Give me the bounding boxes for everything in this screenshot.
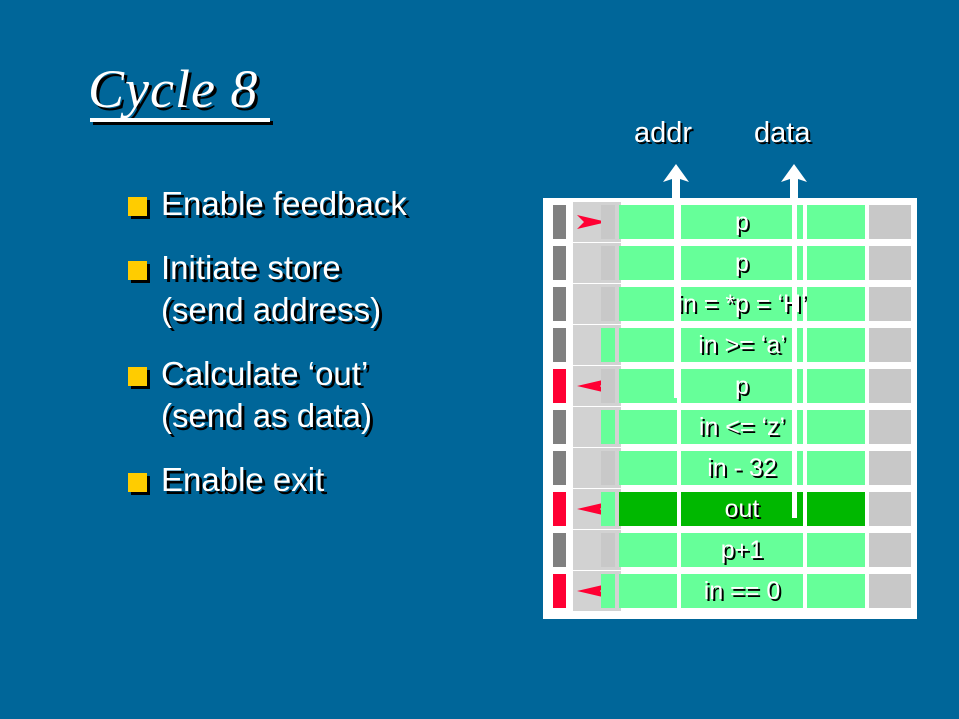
row-stage-cell: [807, 533, 865, 567]
row-stage-cell: [807, 328, 865, 362]
row-stage-cell: [619, 410, 677, 444]
table-row: in >= ‘a’: [543, 325, 917, 365]
row-status-marker: [553, 492, 566, 526]
row-status-marker: [553, 369, 566, 403]
column-header-addr: addr: [634, 117, 692, 150]
row-phase-cell: [601, 246, 615, 280]
row-phase-cell: [601, 205, 615, 239]
row-stage-cell: [681, 246, 803, 280]
row-status-marker: [553, 328, 566, 362]
row-tail-cell: [869, 492, 911, 526]
table-row: in == 0: [543, 571, 917, 611]
row-status-marker: [553, 533, 566, 567]
row-status-marker: [553, 410, 566, 444]
addr-connector-line: [674, 198, 679, 398]
row-stage-cell: [807, 246, 865, 280]
row-stage-cell: [619, 246, 677, 280]
row-stage-cell: [619, 533, 677, 567]
row-phase-cell: [601, 533, 615, 567]
row-stage-cell: [807, 205, 865, 239]
row-stage-cell: [619, 369, 677, 403]
page-title: Cycle 8: [88, 58, 258, 120]
row-status-marker: [553, 574, 566, 608]
row-stage-cell: [807, 410, 865, 444]
bullet-item: Calculate ‘out’ (send as data): [128, 353, 528, 437]
pipeline-diagram-panel: ppin = *p = ‘H’in >= ‘a’pin <= ‘z’in - 3…: [543, 198, 917, 619]
row-status-marker: [553, 246, 566, 280]
row-phase-cell: [601, 369, 615, 403]
bullet-square-icon: [128, 473, 147, 492]
row-tail-cell: [869, 205, 911, 239]
table-row: p: [543, 202, 917, 242]
title-underline: [90, 118, 270, 122]
row-stage-cell: [681, 492, 803, 526]
pipeline-table: ppin = *p = ‘H’in >= ‘a’pin <= ‘z’in - 3…: [543, 198, 917, 619]
bullet-item-label: Calculate ‘out’ (send as data): [161, 353, 372, 437]
row-tail-cell: [869, 369, 911, 403]
row-stage-cell: [619, 328, 677, 362]
row-stage-cell: [807, 287, 865, 321]
bullet-square-icon: [128, 367, 147, 386]
row-stage-cell: [807, 574, 865, 608]
table-row: p: [543, 243, 917, 283]
bullet-item: Enable feedback: [128, 183, 528, 225]
row-stage-cell: [681, 533, 803, 567]
bullet-list: Enable feedbackInitiate store (send addr…: [128, 183, 528, 523]
bullet-item-label: Enable feedback: [161, 183, 407, 225]
row-stage-cell: [619, 492, 677, 526]
row-tail-cell: [869, 410, 911, 444]
row-tail-cell: [869, 574, 911, 608]
row-phase-cell: [601, 574, 615, 608]
row-tail-cell: [869, 533, 911, 567]
bullet-item-label: Initiate store (send address): [161, 247, 381, 331]
data-connector-line: [792, 198, 797, 518]
row-tail-cell: [869, 451, 911, 485]
row-stage-cell: [681, 287, 803, 321]
row-stage-cell: [681, 369, 803, 403]
bullet-item-label: Enable exit: [161, 459, 324, 501]
row-stage-cell: [681, 205, 803, 239]
bullet-item: Enable exit: [128, 459, 528, 501]
row-stage-cell: [619, 574, 677, 608]
row-stage-cell: [619, 287, 677, 321]
row-stage-cell: [681, 410, 803, 444]
row-stage-cell: [807, 492, 865, 526]
bullet-item: Initiate store (send address): [128, 247, 528, 331]
column-header-data: data: [754, 117, 810, 150]
row-stage-cell: [681, 451, 803, 485]
row-stage-cell: [619, 205, 677, 239]
row-phase-cell: [601, 287, 615, 321]
table-row: p: [543, 366, 917, 406]
table-row: in - 32: [543, 448, 917, 488]
row-status-marker: [553, 205, 566, 239]
row-status-marker: [553, 451, 566, 485]
table-row: in = *p = ‘H’: [543, 284, 917, 324]
row-stage-cell: [619, 451, 677, 485]
table-row: p+1: [543, 530, 917, 570]
table-row: in <= ‘z’: [543, 407, 917, 447]
row-tail-cell: [869, 246, 911, 280]
row-stage-cell: [681, 574, 803, 608]
row-phase-cell: [601, 410, 615, 444]
row-tail-cell: [869, 328, 911, 362]
row-stage-cell: [681, 328, 803, 362]
bullet-square-icon: [128, 261, 147, 280]
row-stage-cell: [807, 451, 865, 485]
table-row: out: [543, 489, 917, 529]
row-stage-cell: [807, 369, 865, 403]
row-tail-cell: [869, 287, 911, 321]
row-phase-cell: [601, 492, 615, 526]
bullet-square-icon: [128, 197, 147, 216]
row-status-marker: [553, 287, 566, 321]
row-phase-cell: [601, 328, 615, 362]
row-phase-cell: [601, 451, 615, 485]
